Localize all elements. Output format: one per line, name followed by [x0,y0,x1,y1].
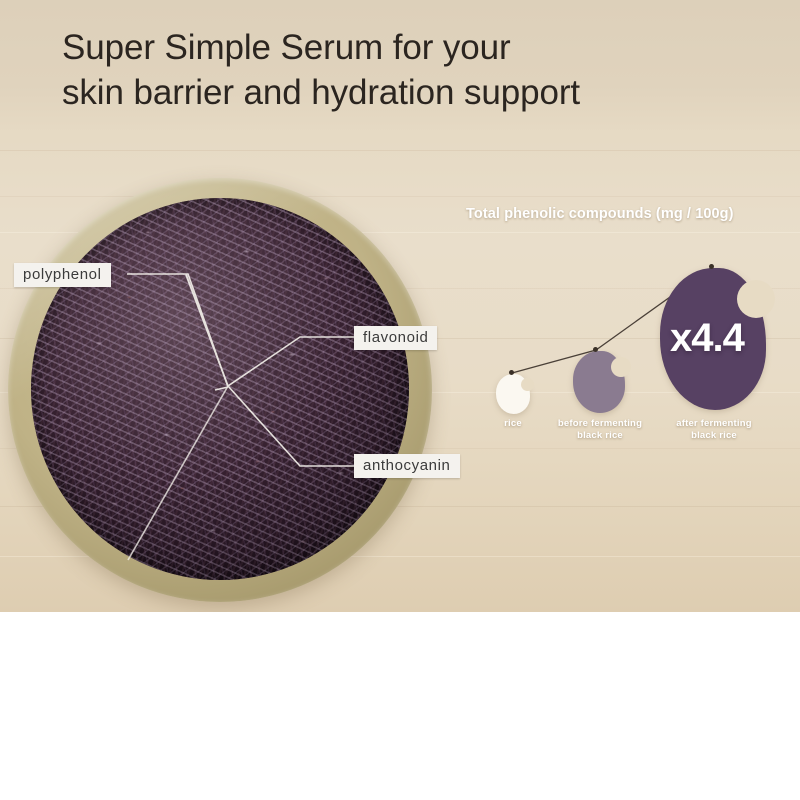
callout-label-polyphenol: polyphenol [14,263,111,287]
promo-infographic: Super Simple Serum for your skin barrier… [0,0,800,800]
bowl-shading [31,198,409,580]
chart-bubble-rice [496,374,530,414]
bottom-text-section: - What is the Benefit of Fermented Black… [0,612,800,800]
chart-multiplier-value: x4.4 [670,316,744,361]
bowl-rice-fill [31,198,409,580]
callout-label-flavonoid: flavonoid [354,326,437,350]
bubble-notch-before [611,357,631,377]
chart-label-after-fermenting: after fermenting black rice [658,418,770,442]
phenolic-compounds-chart: Total phenolic compounds (mg / 100g) ric… [462,206,800,456]
chart-bubble-before-fermenting [573,351,625,413]
black-rice-bowl [8,178,432,602]
bubble-notch-rice [521,378,534,391]
page-title: Super Simple Serum for your skin barrier… [62,26,762,116]
chart-dot-rice [509,370,514,375]
chart-label-before-fermenting: before fermenting black rice [544,418,656,442]
chart-dot-after-fermenting [709,264,714,269]
chart-dot-before-fermenting [593,347,598,352]
hero-photo-band: Super Simple Serum for your skin barrier… [0,0,800,612]
callout-label-anthocyanin: anthocyanin [354,454,460,478]
bubble-notch-after [737,280,775,318]
chart-label-rice: rice [476,418,550,430]
